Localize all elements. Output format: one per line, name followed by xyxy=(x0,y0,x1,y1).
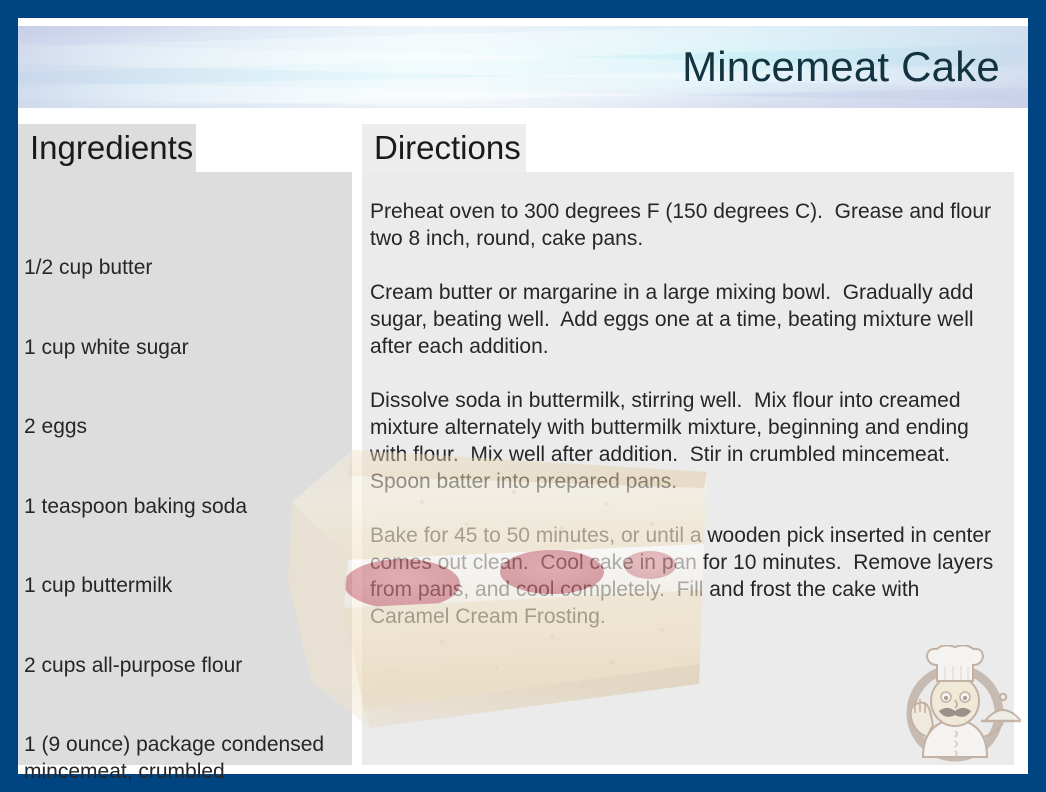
list-item: 1 teaspoon baking soda xyxy=(24,494,346,521)
ingredients-list: 1/2 cup butter 1 cup white sugar 2 eggs … xyxy=(24,202,346,792)
title-banner: Mincemeat Cake xyxy=(18,26,1028,108)
directions-text: Preheat oven to 300 degrees F (150 degre… xyxy=(370,198,1000,657)
recipe-card: Mincemeat Cake Ingredients 1/2 cup butte… xyxy=(0,0,1046,792)
ingredients-header-strip: Ingredients xyxy=(18,124,352,172)
list-item: 2 eggs xyxy=(24,414,346,441)
page-title: Mincemeat Cake xyxy=(682,43,1000,91)
list-item: 1 cup white sugar xyxy=(24,335,346,362)
directions-heading: Directions xyxy=(374,126,521,170)
list-item: 1/2 cup butter xyxy=(24,255,346,282)
directions-header-strip: Directions xyxy=(362,124,1014,172)
list-item: 2 cups all-purpose flour xyxy=(24,653,346,680)
ingredients-body: 1/2 cup butter 1 cup white sugar 2 eggs … xyxy=(18,172,352,765)
directions-body: Preheat oven to 300 degrees F (150 degre… xyxy=(362,172,1014,765)
direction-step: Dissolve soda in buttermilk, stirring we… xyxy=(370,387,1000,495)
list-item: 1 cup buttermilk xyxy=(24,573,346,600)
direction-step: Cream butter or margarine in a large mix… xyxy=(370,279,1000,360)
directions-panel: Directions Preheat oven to 300 degrees F… xyxy=(362,124,1014,765)
ingredients-panel: Ingredients 1/2 cup butter 1 cup white s… xyxy=(18,124,352,765)
direction-step: Bake for 45 to 50 minutes, or until a wo… xyxy=(370,522,1000,630)
ingredients-heading: Ingredients xyxy=(30,126,193,170)
list-item: 1 (9 ounce) package condensed mincemeat,… xyxy=(24,732,346,785)
direction-step: Preheat oven to 300 degrees F (150 degre… xyxy=(370,198,1000,252)
